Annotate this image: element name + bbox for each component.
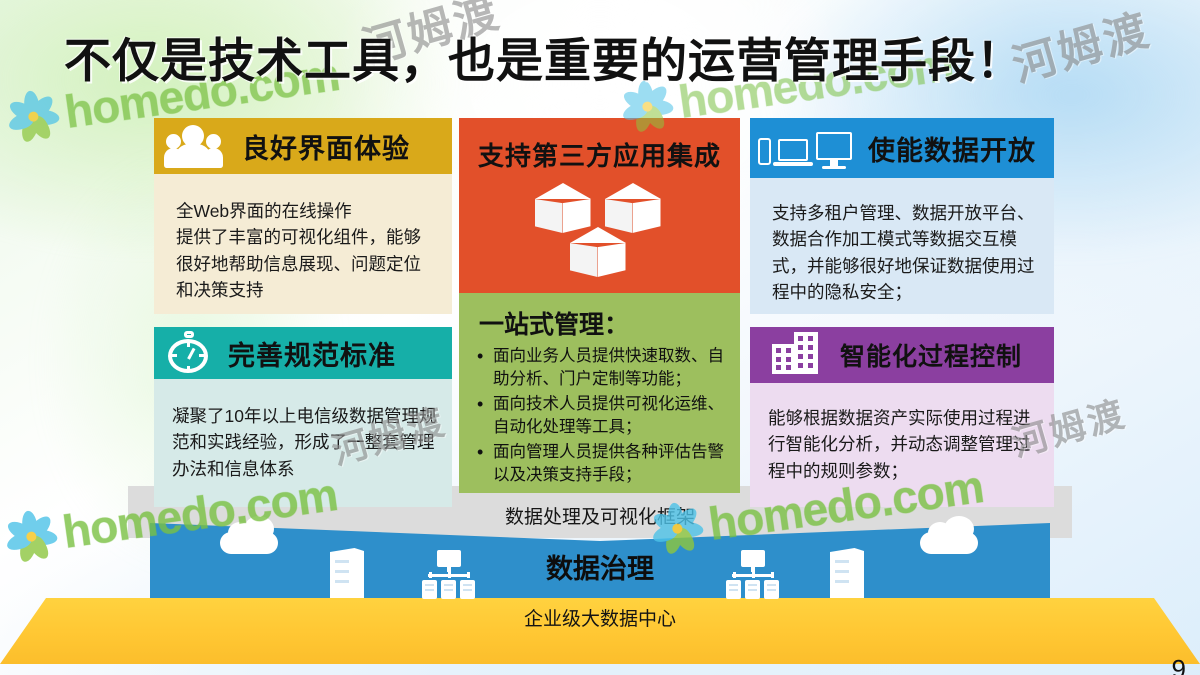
people-icon (164, 124, 230, 168)
card-ui-experience-body: 全Web界面的在线操作 提供了丰富的可视化组件，能够很好地帮助信息展现、问题定位… (154, 174, 452, 314)
slide-title: 不仅是技术工具，也是重要的运营管理手段！ (64, 22, 1154, 91)
card-one-stop-management-title: 一站式管理： (479, 305, 730, 341)
card-third-party-integration: 支持第三方应用集成 (459, 118, 740, 293)
buildings-icon (772, 332, 828, 378)
card-ui-experience-title: 良好界面体验 (242, 127, 410, 166)
datacenter-label: 企业级大数据中心 (0, 604, 1200, 631)
card-data-openness-body: 支持多租户管理、数据开放平台、数据合作加工模式等数据交互模式，并能够很好地保证数… (750, 178, 1054, 314)
card-ui-experience: 良好界面体验 全Web界面的在线操作 提供了丰富的可视化组件，能够很好地帮助信息… (154, 118, 452, 314)
slide-canvas: 河姆渡 河姆渡 河姆渡 河姆渡 homedo.com homedo.com (0, 0, 1200, 675)
card-one-stop-management: 一站式管理： 面向业务人员提供快速取数、自助分析、门户定制等功能； 面向技术人员… (459, 293, 740, 493)
list-item: 面向业务人员提供快速取数、自助分析、门户定制等功能； (473, 345, 730, 392)
flower-logo-icon (4, 87, 63, 146)
page-number: 9 (1172, 654, 1186, 675)
card-ui-experience-header: 良好界面体验 (154, 118, 452, 174)
card-one-stop-management-title-suffix: ： (604, 311, 629, 339)
governance-label: 数据治理 (0, 547, 1200, 586)
card-data-openness-header: 使能数据开放 (750, 118, 1054, 178)
list-item: 面向管理人员提供各种评估告警以及决策支持手段； (473, 441, 730, 488)
card-standards-title: 完善规范标准 (228, 334, 396, 373)
devices-icon (758, 127, 854, 169)
card-intelligent-process-control-body: 能够根据数据资产实际使用过程进行智能化分析，并动态调整管理过程中的规则参数； (750, 383, 1054, 507)
list-item: 面向技术人员提供可视化运维、自动化处理等工具； (473, 393, 730, 440)
card-one-stop-management-title-text: 一站式管理 (479, 311, 604, 339)
card-data-openness-title: 使能数据开放 (868, 129, 1036, 168)
one-stop-bullet-list: 面向业务人员提供快速取数、自助分析、门户定制等功能； 面向技术人员提供可视化运维… (473, 345, 730, 488)
card-intelligent-process-control-header: 智能化过程控制 (750, 327, 1054, 383)
card-third-party-integration-title: 支持第三方应用集成 (459, 118, 740, 173)
card-standards-body: 凝聚了10年以上电信级数据管理规范和实践经验，形成了一整套管理办法和信息体系 (154, 379, 452, 507)
card-intelligent-process-control: 智能化过程控制 能够根据数据资产实际使用过程进行智能化分析，并动态调整管理过程中… (750, 327, 1054, 507)
cubes-icon (525, 183, 675, 287)
card-standards: 完善规范标准 凝聚了10年以上电信级数据管理规范和实践经验，形成了一整套管理办法… (154, 327, 452, 507)
stopwatch-icon (166, 331, 214, 375)
card-standards-header: 完善规范标准 (154, 327, 452, 379)
platform-base: 数据处理及可视化框架 (0, 486, 1200, 675)
card-intelligent-process-control-title: 智能化过程控制 (840, 337, 1022, 373)
card-data-openness: 使能数据开放 支持多租户管理、数据开放平台、数据合作加工模式等数据交互模式，并能… (750, 118, 1054, 314)
